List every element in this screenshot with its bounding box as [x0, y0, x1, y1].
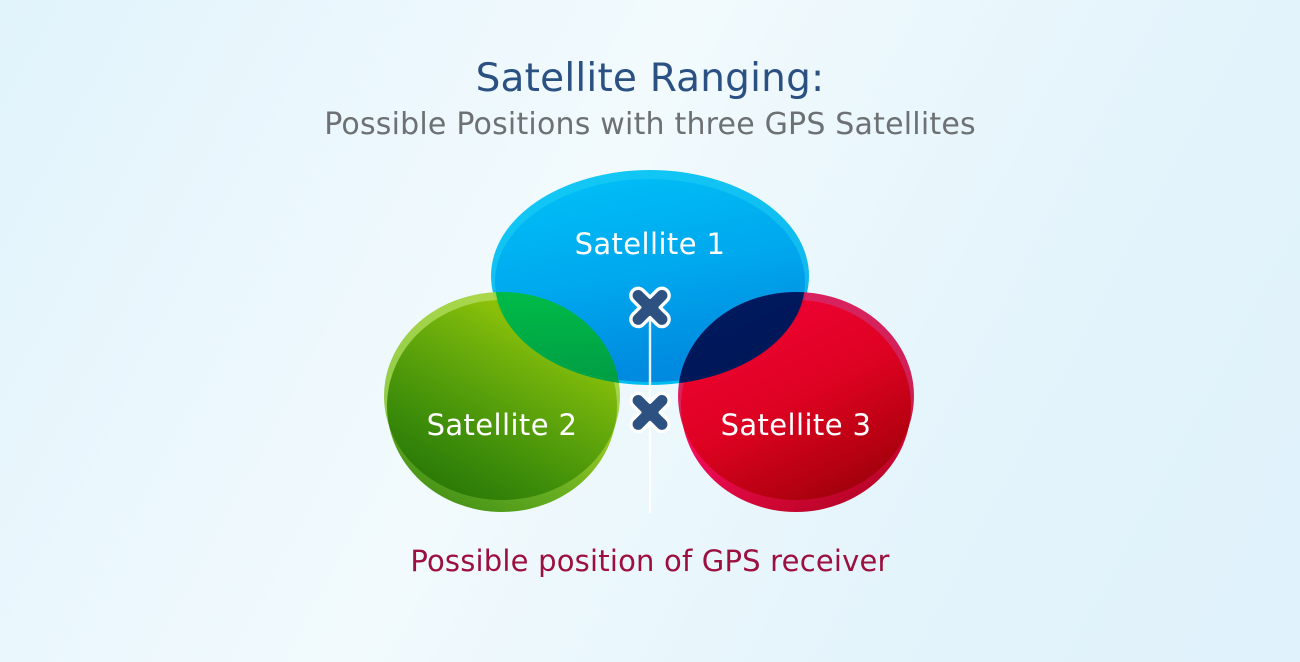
satellite-2-ellipse[interactable] [384, 292, 620, 500]
diagram-caption: Possible position of GPS receiver [0, 541, 1300, 581]
satellite-1-label: Satellite 1 [500, 227, 800, 261]
satellite-3-ellipse[interactable] [678, 292, 914, 500]
satellite-3-label: Satellite 3 [646, 408, 946, 442]
slide-canvas: Satellite Ranging: Possible Positions wi… [0, 0, 1300, 662]
satellite-2-label: Satellite 2 [352, 408, 652, 442]
